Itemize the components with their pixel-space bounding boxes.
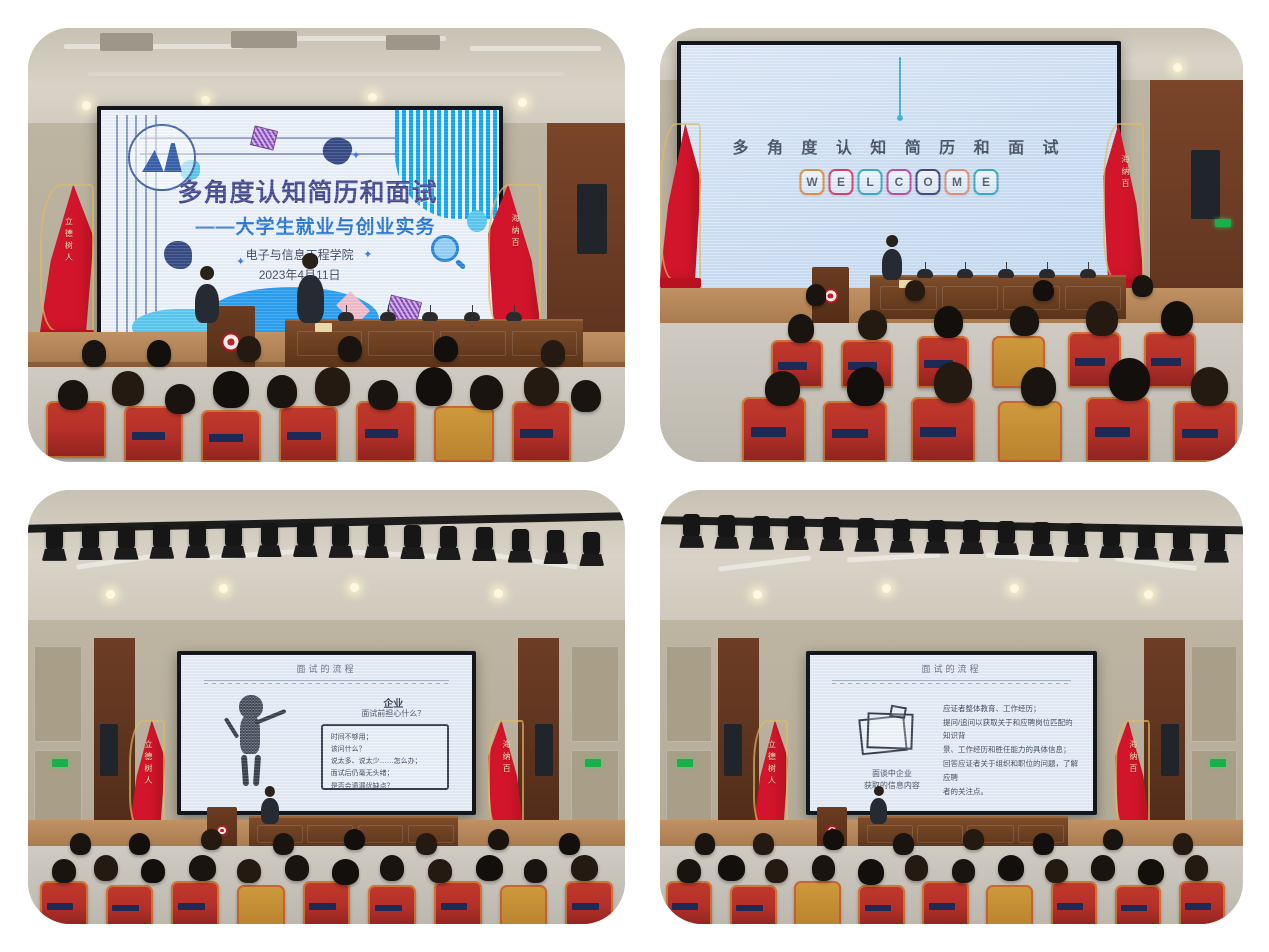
speaker-seated xyxy=(261,798,279,824)
slide-title: 多角度认知简历和面试 xyxy=(156,173,458,209)
speaker-at-podium xyxy=(195,284,219,323)
bullet-item: 该问什么？ xyxy=(331,744,447,756)
bullet-item: 时间不够用； xyxy=(331,732,447,744)
slide-header: 面试的流程 xyxy=(181,662,472,675)
led-screen: 面试的流程 企业 面试前担心什么？ xyxy=(177,651,476,816)
slide-content-deck: 面试的流程 面谈中企业 获取的信息内容 应证者整体教育、工作经历； 提问/追问以… xyxy=(810,655,1094,812)
red-banner-left xyxy=(660,123,701,279)
welcome-letter-e1: E xyxy=(829,169,854,195)
body-line: 者的关注点。 xyxy=(943,785,1079,799)
welcome-letter-e2: E xyxy=(974,169,999,195)
photo-bottom-left: 面试的流程 企业 面试前担心什么？ xyxy=(28,490,625,924)
welcome-letter-c: C xyxy=(887,169,912,195)
welcome-letters: W E L C O M E xyxy=(800,169,999,195)
drop-line xyxy=(899,57,901,117)
photo-collage: ✦ ✦ ✦ ✦ 多角度认知简历和面试 ——大学生就业与创业实务 电子与信息工程学… xyxy=(0,0,1269,952)
red-banner-right: 海纳百 xyxy=(1103,123,1144,279)
bullet-item: 说太多、说太少……怎么办； xyxy=(331,756,447,768)
photo-top-right: 多 角 度 认 知 简 历 和 面 试 W E L C O M E xyxy=(660,28,1243,462)
welcome-letter-o: O xyxy=(916,169,941,195)
red-banner-left: 立德树人 xyxy=(40,184,94,332)
slide-body: 应证者整体教育、工作经历； 提问/追问以获取关于和应聘岗位匹配的知识背 景、工作… xyxy=(943,702,1079,799)
slide-header: 面试的流程 xyxy=(810,662,1094,675)
bullet-box: 时间不够用； 该问什么？ 说太多、说太少……怎么办； 面试后仍毫无头绪； 是否会… xyxy=(321,724,449,790)
body-line: 回答应证者关于组织和职位的问题，了解应聘 xyxy=(943,757,1079,785)
slide-organization: 电子与信息工程学院 xyxy=(172,246,427,263)
bullet-item: 是否会遗漏优缺点？ xyxy=(331,781,447,793)
slide-caption: 面谈中企业 获取的信息内容 xyxy=(835,768,948,792)
welcome-slide-title: 多 角 度 认 知 简 历 和 面 试 xyxy=(725,134,1073,158)
speaker-seated xyxy=(870,798,887,824)
red-banner-left: 立德树人 xyxy=(753,720,788,829)
welcome-letter-w: W xyxy=(800,169,825,195)
body-line: 应证者整体教育、工作经历； xyxy=(943,702,1079,716)
stick-figure-icon xyxy=(222,695,280,786)
red-banner-right: 海纳百 xyxy=(488,720,524,829)
notes-stack-icon xyxy=(855,705,929,761)
photo-bottom-right: 面试的流程 面谈中企业 获取的信息内容 应证者整体教育、工作经历； 提问/追问以… xyxy=(660,490,1243,924)
welcome-letter-l: L xyxy=(858,169,883,195)
body-line: 提问/追问以获取关于和应聘岗位匹配的知识背 xyxy=(943,716,1079,744)
red-banner-left: 立德树人 xyxy=(129,720,165,829)
led-screen: 面试的流程 面谈中企业 获取的信息内容 应证者整体教育、工作经历； 提问/追问以… xyxy=(806,651,1098,816)
person-standing xyxy=(297,275,324,323)
slide-content-deck: 面试的流程 企业 面试前担心什么？ xyxy=(181,655,472,812)
photo-top-left: ✦ ✦ ✦ ✦ 多角度认知简历和面试 ——大学生就业与创业实务 电子与信息工程学… xyxy=(28,28,625,462)
slide-question: 面试前担心什么？ xyxy=(327,708,461,719)
speaker-seated xyxy=(882,249,902,279)
bullet-item: 面试后仍毫无头绪； xyxy=(331,768,447,780)
red-banner-right: 海纳百 xyxy=(1115,720,1150,829)
slide-subtitle: ——大学生就业与创业实务 xyxy=(164,212,466,239)
welcome-letter-m: M xyxy=(945,169,970,195)
body-line: 景、工作经历和胜任能力的具体信息； xyxy=(943,743,1079,757)
